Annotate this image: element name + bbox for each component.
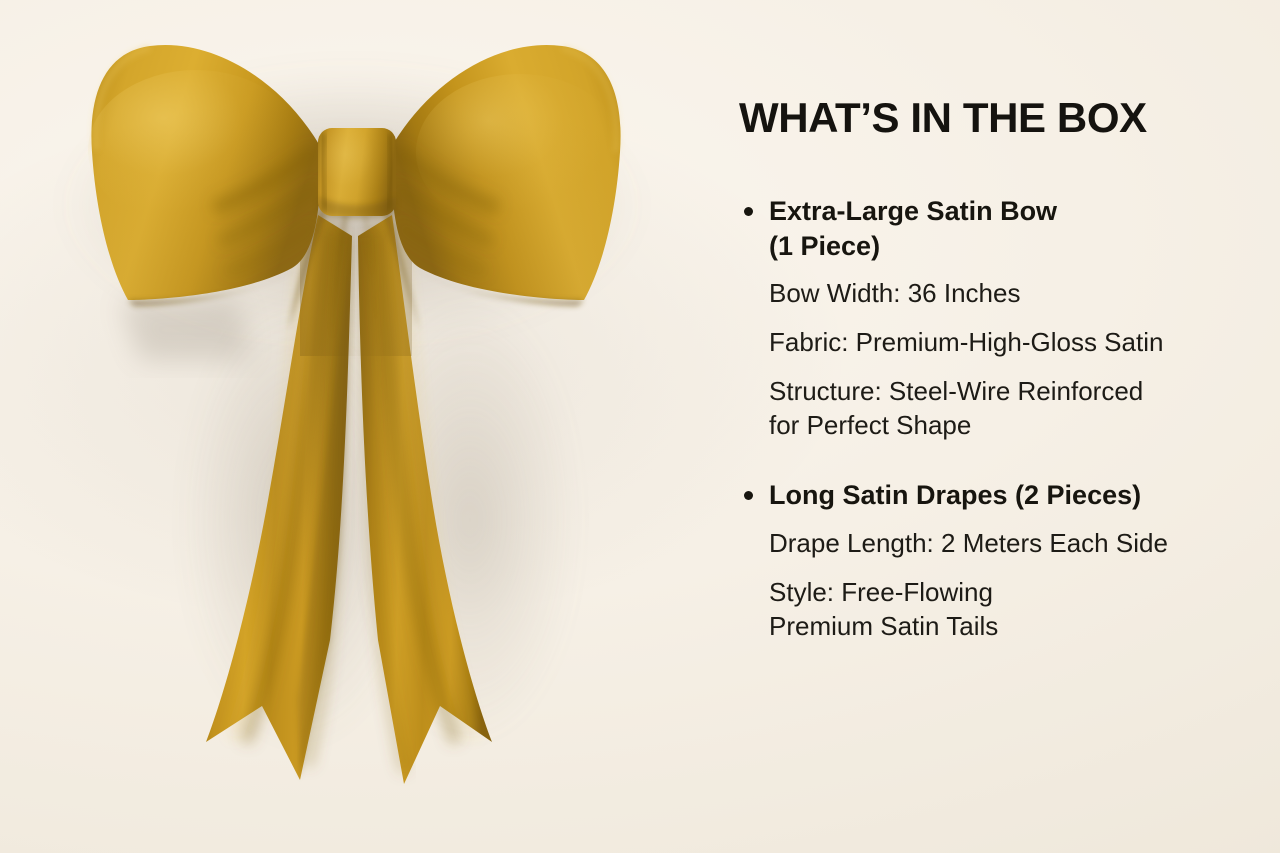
product-image [0, 0, 716, 853]
detail-style: Style: Free-Flowing Premium Satin Tails [769, 576, 1255, 644]
bullet-icon [744, 491, 753, 500]
list-item-satin-bow: Extra-Large Satin Bow (1 Piece) Bow Widt… [739, 194, 1255, 442]
detail-drape-length: Drape Length: 2 Meters Each Side [769, 527, 1255, 561]
list-item-satin-drapes: Long Satin Drapes (2 Pieces) Drape Lengt… [739, 478, 1255, 643]
detail-bow-width: Bow Width: 36 Inches [769, 277, 1255, 311]
group-details-satin-drapes: Drape Length: 2 Meters Each Side Style: … [739, 527, 1255, 643]
detail-structure: Structure: Steel-Wire Reinforced for Per… [769, 375, 1255, 443]
group-heading-satin-bow: Extra-Large Satin Bow (1 Piece) [739, 194, 1255, 263]
group-heading-text: Long Satin Drapes (2 Pieces) [769, 480, 1141, 510]
group-heading-satin-drapes: Long Satin Drapes (2 Pieces) [739, 478, 1255, 513]
group-details-satin-bow: Bow Width: 36 Inches Fabric: Premium-Hig… [739, 277, 1255, 442]
page-title: WHAT’S IN THE BOX [739, 96, 1255, 140]
whats-in-the-box-panel: WHAT’S IN THE BOX Extra-Large Satin Bow … [739, 96, 1255, 643]
bow-center-knot [318, 128, 396, 218]
bullet-icon [744, 207, 753, 216]
infographic-canvas: WHAT’S IN THE BOX Extra-Large Satin Bow … [0, 0, 1280, 853]
detail-fabric: Fabric: Premium-High-Gloss Satin [769, 326, 1255, 360]
group-heading-text: Extra-Large Satin Bow (1 Piece) [769, 196, 1057, 261]
